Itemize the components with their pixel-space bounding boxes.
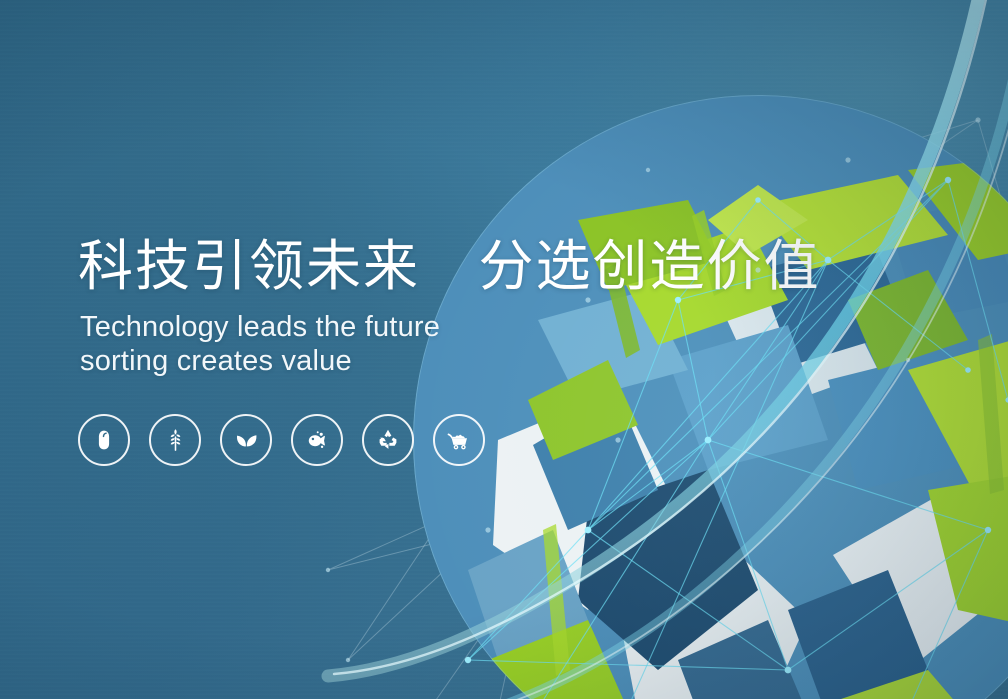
hero-banner: 科技引领未来 分选创造价值 Technology leads the futur… — [0, 0, 1008, 699]
background-vignette — [0, 0, 1008, 699]
